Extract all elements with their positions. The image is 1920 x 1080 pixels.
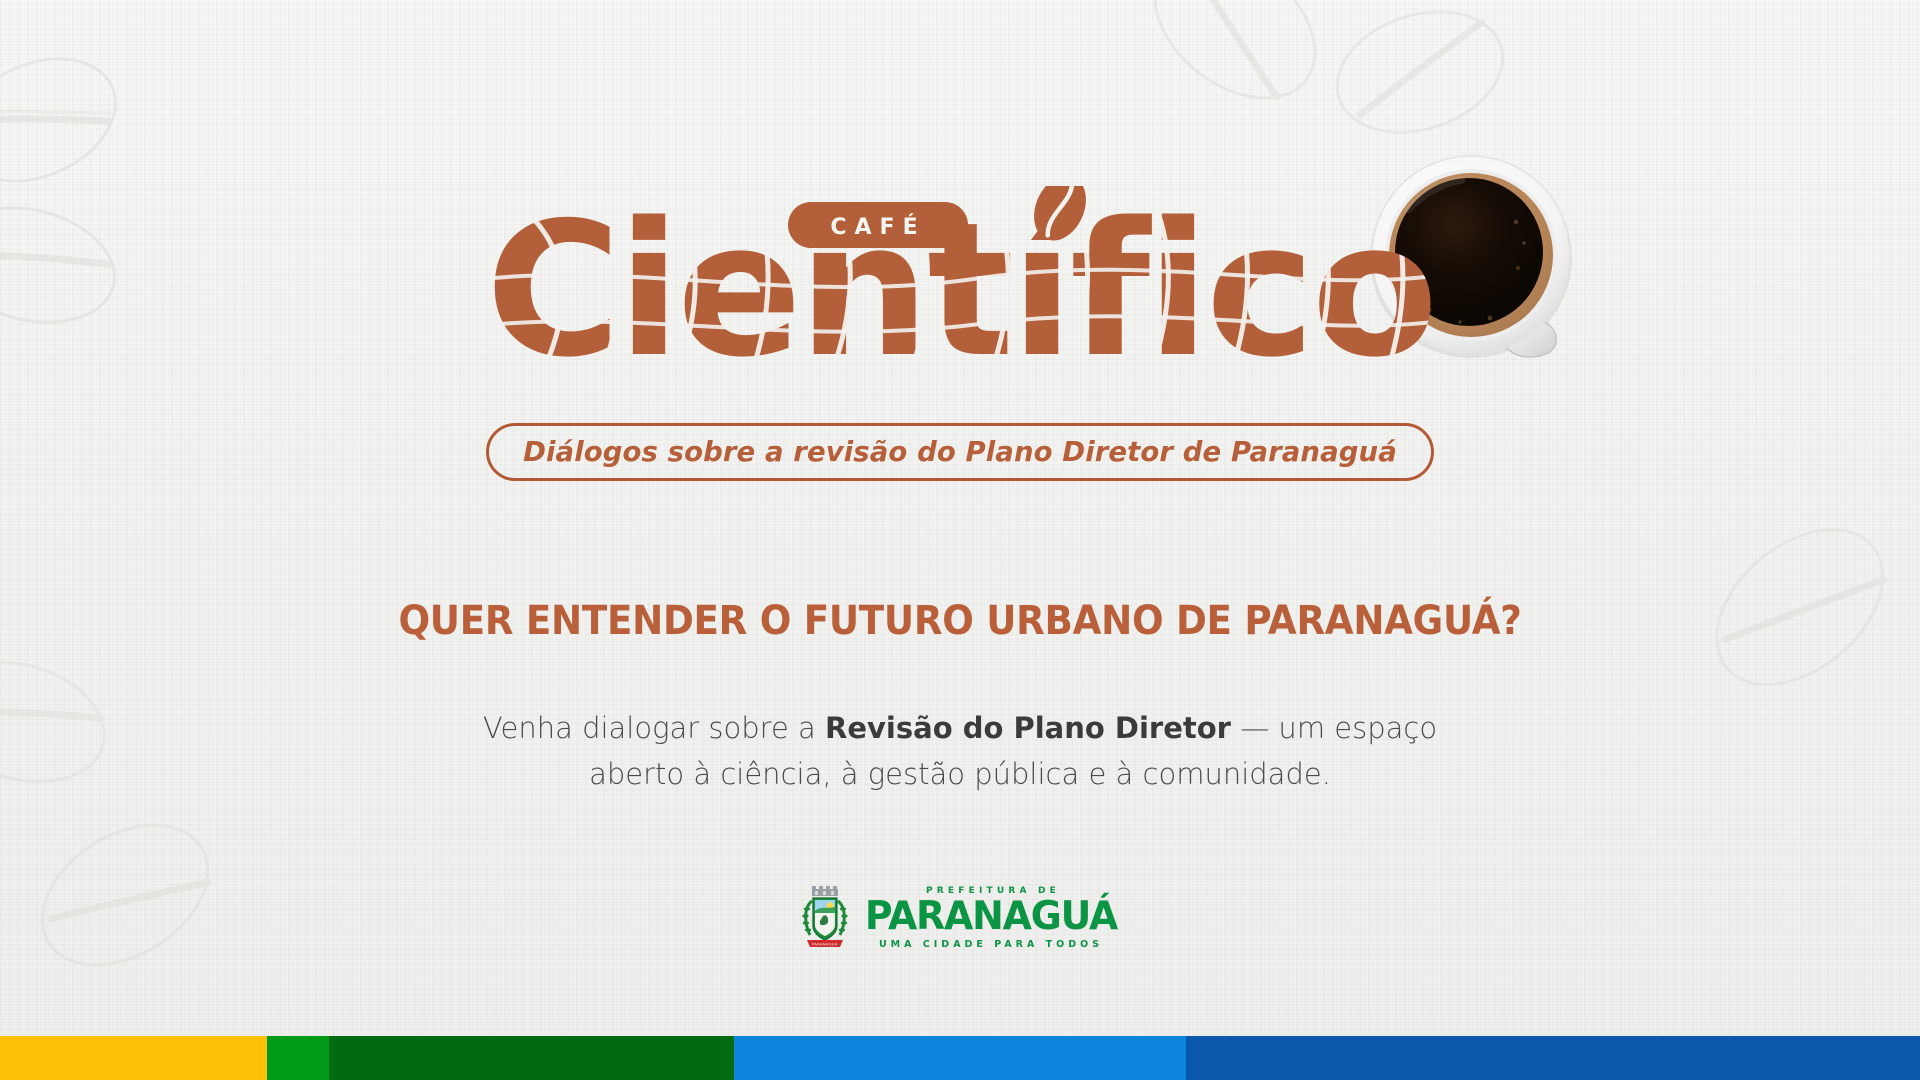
prefeitura-paranagua-logo: PARANAGUA PREFEITURA DE PARANAGUÁ UMA CI… <box>799 885 1121 951</box>
coffee-bean-watermark <box>0 638 124 808</box>
color-bar-segment-blue-light <box>734 1036 1186 1080</box>
cafe-cientifico-logo: Científico <box>460 186 1460 481</box>
prefeitura-slogan: UMA CIDADE PARA TODOS <box>879 939 1103 950</box>
coffee-bean-watermark <box>0 185 132 345</box>
body-line1-suffix: — um espaço <box>1231 711 1437 745</box>
page-headline: QUER ENTENDER O FUTURO URBANO DE PARANAG… <box>67 598 1853 644</box>
svg-text:PARANAGUA: PARANAGUA <box>812 942 838 946</box>
body-line2: aberto à ciência, à gestão pública e à c… <box>589 757 1331 791</box>
body-line1-prefix: Venha dialogar sobre a <box>483 711 825 745</box>
prefeitura-city-name: PARANAGUÁ <box>865 897 1117 936</box>
color-bar-segment-green-light <box>267 1036 329 1080</box>
logo-tagline-pill: Diálogos sobre a revisão do Plano Direto… <box>486 423 1434 481</box>
logo-tagline-text: Diálogos sobre a revisão do Plano Direto… <box>523 436 1397 468</box>
coffee-bean-watermark <box>10 790 240 1001</box>
svg-text:CAFÉ: CAFÉ <box>830 214 925 240</box>
coffee-bean-watermark <box>0 31 139 210</box>
color-bar-segment-blue-dark <box>1186 1036 1920 1080</box>
paranagua-coat-of-arms-icon: PARANAGUA <box>799 885 851 951</box>
cientifico-wordmark: Científico <box>460 186 1460 401</box>
coffee-bean-watermark <box>1315 0 1525 160</box>
body-line1-bold: Revisão do Plano Diretor <box>825 711 1231 745</box>
body-copy: Venha dialogar sobre a Revisão do Plano … <box>400 705 1520 797</box>
prefeitura-logo-text: PREFEITURA DE PARANAGUÁ UMA CIDADE PARA … <box>861 886 1121 950</box>
color-bar-segment-green-dark <box>329 1036 734 1080</box>
poster-canvas: Científico <box>0 0 1920 1080</box>
coffee-bean-watermark <box>1120 0 1350 135</box>
cafe-badge: CAFÉ <box>788 202 968 248</box>
bottom-color-bar <box>0 1036 1920 1080</box>
color-bar-segment-yellow <box>0 1036 267 1080</box>
